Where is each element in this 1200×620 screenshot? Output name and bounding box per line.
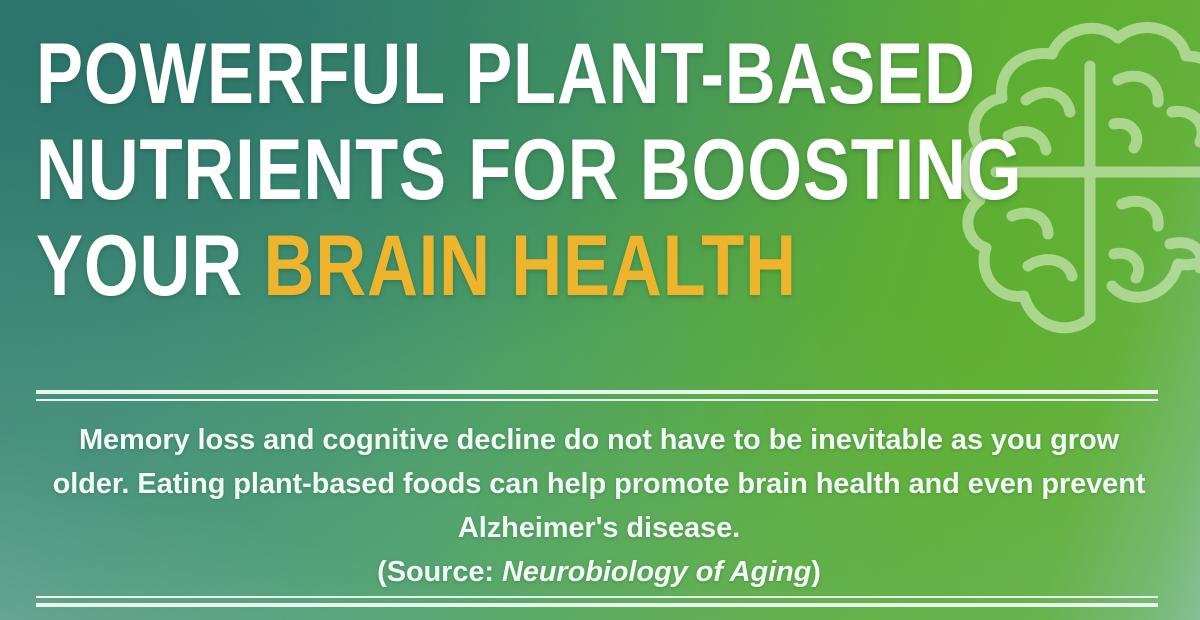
page-title: POWERFUL PLANT-BASED NUTRIENTSFOR BOOSTI… [36, 26, 976, 314]
infographic-header: POWERFUL PLANT-BASED NUTRIENTSFOR BOOSTI… [0, 0, 1200, 620]
source-citation: (Source: Neurobiology of Aging) [377, 556, 821, 588]
headline-line-2-nutrients: NUTRIENTS [36, 122, 447, 218]
headline-line-1: POWERFUL PLANT-BASED [36, 26, 807, 122]
headline-line-3: YOUR BRAIN HEALTH [36, 218, 807, 314]
intro-paragraph: Memory loss and cognitive decline do not… [40, 418, 1158, 594]
divider-top-thin-rule [36, 399, 1158, 401]
divider-bottom [36, 596, 1158, 607]
source-suffix: ) [811, 556, 821, 588]
divider-bottom-thin-rule [36, 596, 1158, 598]
divider-bottom-thick-rule [36, 603, 1158, 607]
headline-line-2-forboosting: FOR BOOSTING [468, 122, 1022, 218]
headline-line-3-brainhealth: BRAIN HEALTH [263, 218, 796, 314]
headline-line-2: NUTRIENTSFOR BOOSTING [36, 122, 807, 218]
headline-line-3-your: YOUR [36, 218, 243, 314]
divider-top [36, 390, 1158, 401]
source-journal-name: Neurobiology of Aging [502, 556, 811, 588]
divider-top-thick-rule [36, 390, 1158, 394]
intro-paragraph-text: Memory loss and cognitive decline do not… [53, 424, 1146, 544]
source-prefix: (Source: [377, 556, 502, 588]
